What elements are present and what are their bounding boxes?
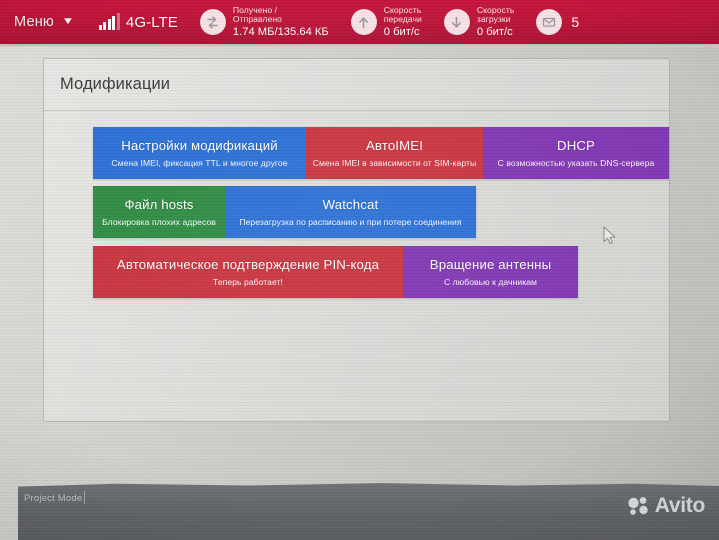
arrow-down-icon bbox=[444, 9, 470, 35]
chevron-down-icon: ▼ bbox=[61, 17, 74, 27]
modifications-panel: Модификации Настройки модификаций Смена … bbox=[43, 58, 670, 422]
tile-title: Настройки модификаций bbox=[121, 138, 278, 153]
tile-auto-pin-confirm[interactable]: Автоматическое подтверждение PIN-кода Те… bbox=[93, 246, 403, 298]
tile-watchcat[interactable]: Watchcat Перезагрузка по расписанию и пр… bbox=[225, 186, 476, 238]
tile-title: Watchcat bbox=[323, 197, 379, 212]
avito-brand-text: Avito bbox=[655, 495, 705, 516]
taskbar-separator-left bbox=[17, 491, 18, 504]
messages-count: 5 bbox=[571, 14, 579, 30]
upload-caption-line2: передачи bbox=[384, 15, 422, 24]
tile-subtitle: Теперь работает! bbox=[213, 277, 283, 287]
tile-subtitle: С возможностью указать DNS-сервера bbox=[498, 158, 655, 168]
taskbar bbox=[18, 482, 719, 540]
download-caption-line2: загрузки bbox=[477, 15, 515, 24]
traffic-caption-line2: Отправлено bbox=[233, 15, 329, 24]
download-value: 0 бит/с bbox=[477, 26, 515, 38]
tile-subtitle: Блокировка плохих адресов bbox=[102, 217, 216, 227]
tile-title: Файл hosts bbox=[124, 197, 193, 212]
tile-dhcp[interactable]: DHCP С возможностью указать DNS-сервера bbox=[483, 127, 669, 179]
tile-row-2: Файл hosts Блокировка плохих адресов Wat… bbox=[93, 186, 476, 238]
envelope-icon bbox=[536, 9, 562, 35]
status-bar-underline bbox=[0, 44, 719, 47]
taskbar-separator-right bbox=[84, 491, 85, 504]
tile-row-3: Автоматическое подтверждение PIN-кода Те… bbox=[93, 246, 578, 298]
avito-watermark: Avito bbox=[627, 495, 705, 516]
signal-bars-icon bbox=[99, 14, 120, 30]
arrow-up-icon bbox=[351, 9, 377, 35]
screenshot-root: Меню ▼ 4G-LTE Получено / Отправлено 1.74… bbox=[0, 0, 719, 540]
tile-hosts-file[interactable]: Файл hosts Блокировка плохих адресов bbox=[93, 186, 225, 238]
project-mode-label: Project Mode bbox=[24, 493, 82, 504]
tile-antenna-rotation[interactable]: Вращение антенны С любовью к дачникам bbox=[403, 246, 578, 298]
tile-title: Автоматическое подтверждение PIN-кода bbox=[117, 257, 379, 272]
page-title: Модификации bbox=[60, 75, 170, 94]
tile-auto-imei[interactable]: АвтоIMEI Смена IMEI в зависимости от SIM… bbox=[306, 127, 483, 179]
traffic-stat: Получено / Отправлено 1.74 МБ/135.64 КБ bbox=[200, 6, 329, 38]
data-transfer-icon bbox=[200, 9, 226, 35]
menu-label: Меню bbox=[14, 14, 54, 30]
network-type-label: 4G-LTE bbox=[126, 14, 178, 31]
tile-subtitle: Смена IMEI, фиксация TTL и многое другое bbox=[111, 158, 287, 168]
upload-speed-stat: Скорость передачи 0 бит/с bbox=[351, 6, 422, 38]
tile-subtitle: Перезагрузка по расписанию и при потере … bbox=[239, 217, 461, 227]
messages-stat[interactable]: 5 bbox=[536, 9, 579, 35]
tile-subtitle: Смена IMEI в зависимости от SIM-карты bbox=[313, 158, 476, 168]
tile-subtitle: С любовью к дачникам bbox=[444, 277, 537, 287]
tile-title: Вращение антенны bbox=[430, 257, 551, 272]
tile-title: DHCP bbox=[557, 138, 595, 153]
tile-mod-settings[interactable]: Настройки модификаций Смена IMEI, фиксац… bbox=[93, 127, 306, 179]
status-bar: Меню ▼ 4G-LTE Получено / Отправлено 1.74… bbox=[0, 0, 719, 44]
tile-title: АвтоIMEI bbox=[366, 138, 423, 153]
upload-value: 0 бит/с bbox=[384, 26, 422, 38]
avito-dots-icon bbox=[627, 496, 649, 516]
panel-divider bbox=[44, 110, 669, 111]
download-speed-stat: Скорость загрузки 0 бит/с bbox=[444, 6, 515, 38]
traffic-value: 1.74 МБ/135.64 КБ bbox=[233, 26, 329, 38]
menu-button[interactable]: Меню ▼ bbox=[0, 14, 83, 30]
tile-row-1: Настройки модификаций Смена IMEI, фиксац… bbox=[93, 127, 669, 179]
